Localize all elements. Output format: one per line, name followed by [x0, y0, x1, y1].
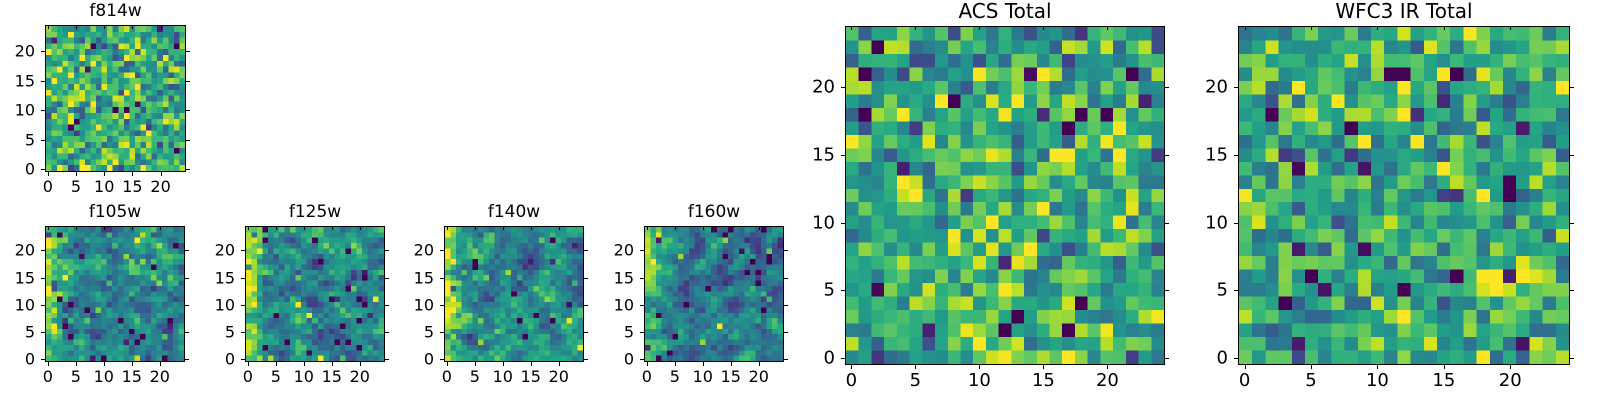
ytick-mark-right [1570, 155, 1574, 156]
ytick-mark-right [1570, 358, 1574, 359]
ytick-label: 20 [1194, 77, 1228, 98]
xtick-mark-top [1377, 26, 1378, 30]
xtick-mark [1311, 365, 1312, 369]
xtick-mark [1245, 365, 1246, 369]
ytick-label: 10 [1194, 212, 1228, 233]
ytick-label: 0 [1194, 348, 1228, 369]
ytick-label: 15 [1194, 144, 1228, 165]
ytick-label: 5 [1194, 280, 1228, 301]
panel-title-wfc3-ir-total: WFC3 IR Total [1238, 0, 1570, 23]
panel-wfc3-ir-total: WFC3 IR Total0510152005101520 [0, 0, 1600, 400]
ytick-mark-right [1570, 290, 1574, 291]
xtick-mark-top [1510, 26, 1511, 30]
ytick-mark-right [1570, 223, 1574, 224]
ytick-mark [1234, 155, 1238, 156]
xtick-mark [1444, 365, 1445, 369]
heatmap-image-wfc3-ir-total [1239, 27, 1569, 364]
xtick-label: 15 [1432, 370, 1455, 391]
xtick-label: 10 [1366, 370, 1389, 391]
xtick-mark [1510, 365, 1511, 369]
xtick-mark-top [1311, 26, 1312, 30]
xtick-label: 5 [1305, 370, 1316, 391]
axes-wfc3-ir-total[interactable] [1238, 26, 1570, 365]
ytick-mark-right [1570, 87, 1574, 88]
ytick-mark [1234, 290, 1238, 291]
xtick-mark [1377, 365, 1378, 369]
ytick-mark [1234, 87, 1238, 88]
xtick-mark-top [1245, 26, 1246, 30]
ytick-mark [1234, 223, 1238, 224]
ytick-mark [1234, 358, 1238, 359]
xtick-label: 0 [1239, 370, 1250, 391]
figure-canvas: f814w0510152005101520f105w05101520051015… [0, 0, 1600, 400]
xtick-mark-top [1444, 26, 1445, 30]
xtick-label: 20 [1499, 370, 1522, 391]
